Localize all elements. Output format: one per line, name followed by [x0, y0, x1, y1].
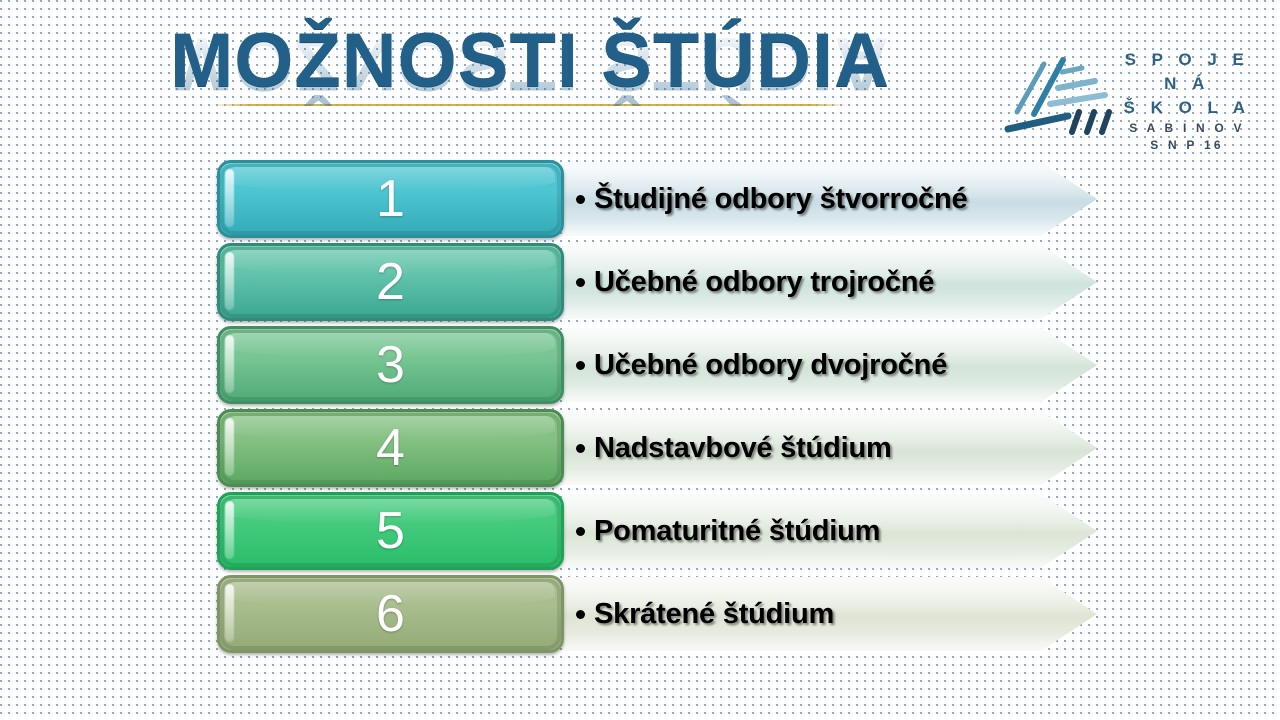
study-option-row: Pomaturitné štúdium5 [217, 492, 1097, 575]
logo-wordmark: S P O J E N Á Š K O L A S A B I N O V S … [1112, 48, 1262, 154]
step-number-label: 1 [220, 163, 561, 235]
page-title-text: MOŽNOSTI ŠTÚDIA [150, 18, 910, 104]
study-option-label: Pomaturitné štúdium [594, 515, 880, 548]
chevron-label-group: Skrátené štúdium [576, 598, 834, 631]
bullet-icon [576, 361, 585, 370]
step-number-box[interactable]: 6 [217, 575, 564, 653]
school-logo: S P O J E N Á Š K O L A S A B I N O V S … [1000, 40, 1262, 148]
step-number-box[interactable]: 3 [217, 326, 564, 404]
step-number-label: 4 [220, 412, 561, 484]
chevron-label-group: Učebné odbory dvojročné [576, 349, 947, 382]
page-title: MOŽNOSTI ŠTÚDIA MOŽNOSTI ŠTÚDIA [150, 18, 910, 146]
chevron-label-group: Pomaturitné štúdium [576, 515, 880, 548]
study-option-row: Skrátené štúdium6 [217, 575, 1097, 658]
chevron-label-group: Učebné odbory trojročné [576, 266, 934, 299]
study-option-label: Nadstavbové štúdium [594, 432, 892, 465]
logo-line-skola: Š K O L A [1112, 96, 1262, 120]
logo-brushstroke-icon [1000, 50, 1120, 140]
study-option-row: Nadstavbové štúdium4 [217, 409, 1097, 492]
bullet-icon [576, 444, 585, 453]
study-option-label: Učebné odbory trojročné [594, 266, 934, 299]
bullet-icon [576, 278, 585, 287]
logo-line-sabinov: S A B I N O V [1112, 120, 1262, 137]
step-number-box[interactable]: 2 [217, 243, 564, 321]
study-option-chevron[interactable]: Učebné odbory dvojročné [562, 328, 1097, 402]
study-option-label: Učebné odbory dvojročné [594, 349, 947, 382]
study-options-list: Študijné odbory štvorročné1Učebné odbory… [217, 160, 1097, 658]
logo-line-spojena: S P O J E N Á [1112, 48, 1262, 96]
bullet-icon [576, 527, 585, 536]
study-option-chevron[interactable]: Skrátené štúdium [562, 577, 1097, 651]
study-option-row: Učebné odbory trojročné2 [217, 243, 1097, 326]
step-number-label: 3 [220, 329, 561, 401]
step-number-box[interactable]: 1 [217, 160, 564, 238]
study-option-chevron[interactable]: Nadstavbové štúdium [562, 411, 1097, 485]
study-option-row: Študijné odbory štvorročné1 [217, 160, 1097, 243]
study-option-chevron[interactable]: Pomaturitné štúdium [562, 494, 1097, 568]
slide-canvas: MOŽNOSTI ŠTÚDIA MOŽNOSTI ŠTÚDIA S P O J … [0, 0, 1280, 720]
chevron-label-group: Nadstavbové štúdium [576, 432, 892, 465]
step-number-box[interactable]: 5 [217, 492, 564, 570]
bullet-icon [576, 195, 585, 204]
title-underline-rule [211, 104, 849, 106]
study-option-label: Študijné odbory štvorročné [594, 183, 967, 216]
step-number-label: 6 [220, 578, 561, 650]
page-title-reflection: MOŽNOSTI ŠTÚDIA [150, 20, 910, 106]
chevron-label-group: Študijné odbory štvorročné [576, 183, 967, 216]
study-option-chevron[interactable]: Študijné odbory štvorročné [562, 162, 1097, 236]
study-option-label: Skrátené štúdium [594, 598, 834, 631]
study-option-row: Učebné odbory dvojročné3 [217, 326, 1097, 409]
study-option-chevron[interactable]: Učebné odbory trojročné [562, 245, 1097, 319]
step-number-label: 2 [220, 246, 561, 318]
bullet-icon [576, 610, 585, 619]
logo-line-snp: S N P 16 [1112, 137, 1262, 154]
step-number-label: 5 [220, 495, 561, 567]
step-number-box[interactable]: 4 [217, 409, 564, 487]
